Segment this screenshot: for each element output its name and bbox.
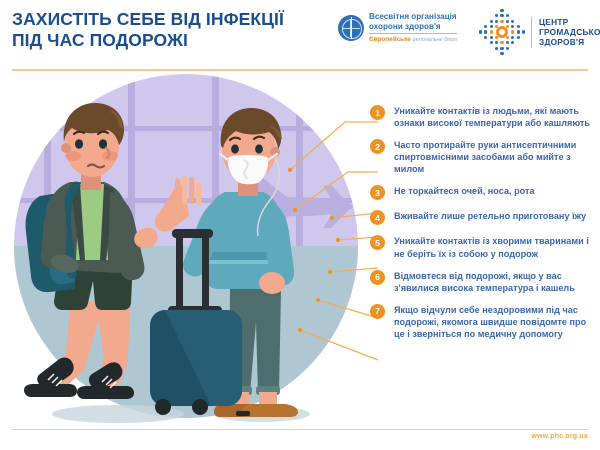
who-logo-subtitle-main: Європейське (369, 36, 411, 43)
list-item-number: 6 (370, 270, 385, 285)
footer-divider (12, 429, 588, 430)
logo-divider (531, 17, 532, 48)
list-item-number: 7 (370, 304, 385, 319)
recommendations-list: 1 Уникайте контактів із людьми, які мают… (370, 104, 595, 349)
who-logo: Всесвітня організація охорони здоров'я Є… (338, 12, 457, 45)
header: ЗАХИСТІТЬ СЕБЕ ВІД ІНФЕКЦІЇ ПІД ЧАС ПОДО… (0, 0, 600, 66)
list-item-text: Уникайте контактів із хворими тваринами … (394, 234, 595, 259)
phc-logo-text: ЦЕНТР ГРОМАДСЬКОГО ЗДОРОВ'Я (539, 17, 600, 48)
list-item-text: Якщо відчули себе нездоровими під час по… (394, 303, 595, 340)
list-item: 1 Уникайте контактів із людьми, які мают… (370, 104, 595, 129)
list-item: 7 Якщо відчули себе нездоровими під час … (370, 303, 595, 340)
list-item-text: Не торкайтеся очей, носа, рота (394, 184, 535, 197)
list-item: 3 Не торкайтеся очей, носа, рота (370, 184, 595, 200)
header-divider (12, 69, 588, 71)
list-item-text: Вживайте лише ретельно приготовану їжу (394, 209, 586, 222)
infographic-poster: ЗАХИСТІТЬ СЕБЕ ВІД ІНФЕКЦІЇ ПІД ЧАС ПОДО… (0, 0, 600, 450)
list-item: 6 Відмовтеся від подорожі, якщо у вас з'… (370, 269, 595, 294)
footer-url[interactable]: www.phc.org.ua (531, 433, 588, 440)
phc-logo: ЦЕНТР ГРОМАДСЬКОГО ЗДОРОВ'Я (480, 10, 600, 54)
who-logo-subtitle-small: регіональне бюро (413, 37, 458, 43)
illustration (0, 74, 370, 429)
page-title-line2: ПІД ЧАС ПОДОРОЖІ (12, 30, 342, 51)
who-emblem-icon (338, 15, 364, 41)
list-item-text: Часто протирайте руки антисептичними спи… (394, 138, 595, 175)
phc-diamond-dots-icon (480, 10, 524, 54)
list-item-number: 4 (370, 210, 385, 225)
list-item-number: 2 (370, 139, 385, 154)
list-item: 5 Уникайте контактів із хворими тваринам… (370, 234, 595, 259)
phc-logo-line2: ГРОМАДСЬКОГО (539, 27, 600, 37)
list-item-number: 5 (370, 235, 385, 250)
who-logo-name-line1: Всесвітня організація (369, 12, 457, 22)
list-item: 4 Вживайте лише ретельно приготовану їжу (370, 209, 595, 225)
list-item-text: Уникайте контактів із людьми, які мають … (394, 104, 595, 129)
page-title: ЗАХИСТІТЬ СЕБЕ ВІД ІНФЕКЦІЇ ПІД ЧАС ПОДО… (12, 9, 342, 50)
who-logo-subtitle: Європейське регіональне бюро (369, 33, 457, 44)
logo-group: Всесвітня організація охорони здоров'я Є… (338, 9, 596, 57)
list-item: 2 Часто протирайте руки антисептичними с… (370, 138, 595, 175)
phc-logo-line3: ЗДОРОВ'Я (539, 37, 600, 47)
list-item-number: 1 (370, 105, 385, 120)
who-logo-name-line2: охорони здоров'я (369, 22, 457, 32)
phc-logo-line1: ЦЕНТР (539, 17, 600, 27)
list-item-text: Відмовтеся від подорожі, якщо у вас з'яв… (394, 269, 595, 294)
page-title-line1: ЗАХИСТІТЬ СЕБЕ ВІД ІНФЕКЦІЇ (12, 9, 284, 29)
list-item-number: 3 (370, 185, 385, 200)
